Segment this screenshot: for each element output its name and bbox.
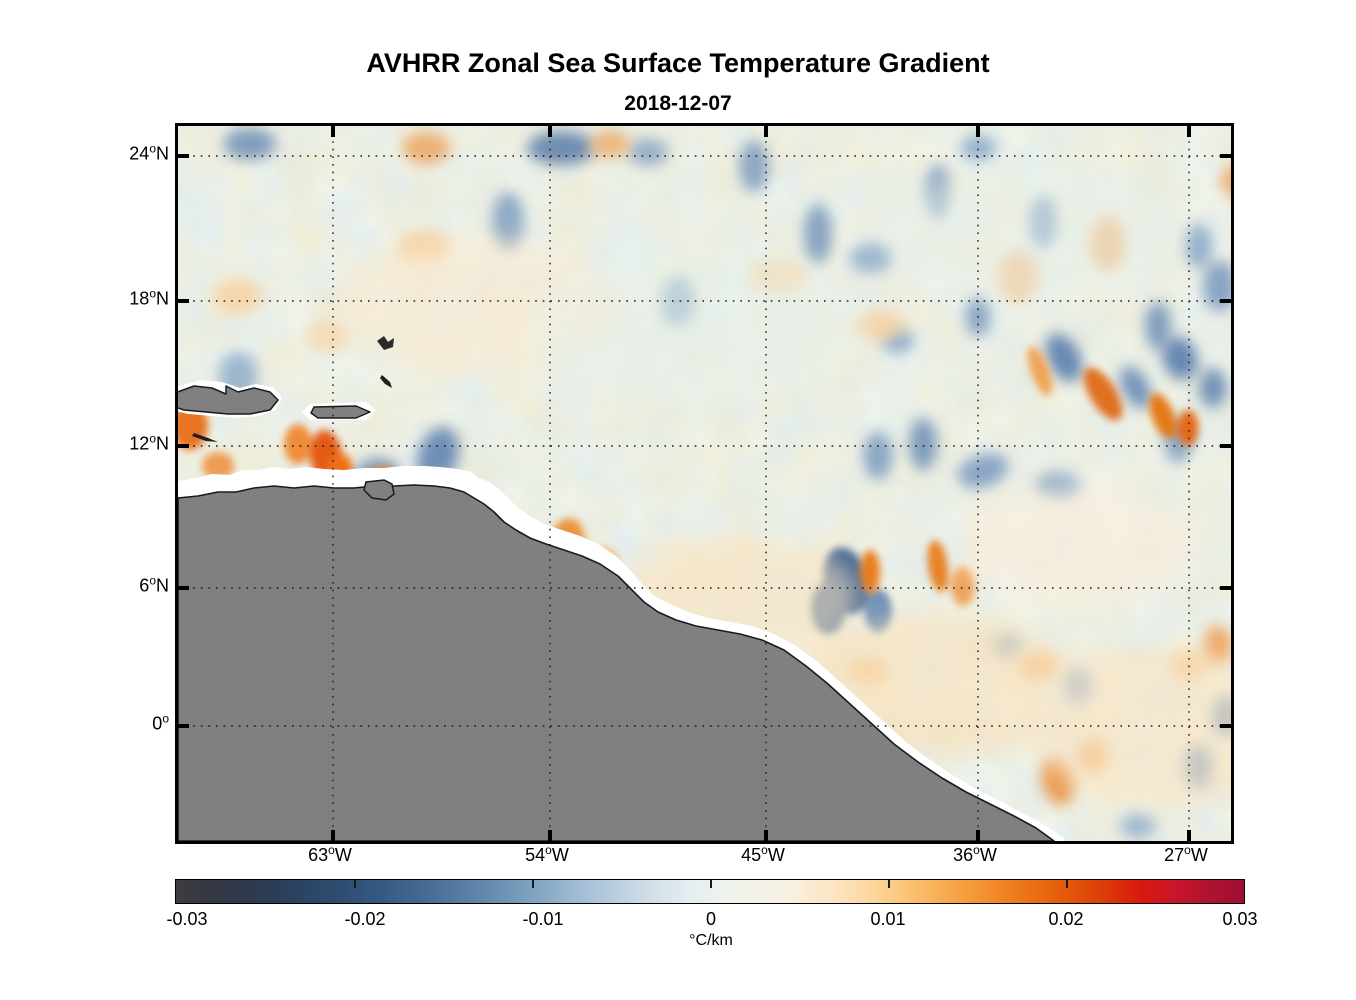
y-axis-tick-label: 12oN [129,432,169,455]
colorbar-tick-label: -0.03 [166,909,207,930]
colorbar-tick [354,880,356,888]
map-clip [178,126,1231,841]
y-axis-tick-label: 18oN [129,287,169,310]
colorbar-tick-label: 0 [706,909,716,930]
x-axis-tick-label: 63oW [308,843,352,866]
colorbar-tick [1066,880,1068,888]
map-plot-area[interactable] [175,123,1234,844]
y-axis-tick-label: 6oN [139,574,169,597]
colorbar-tick-label: -0.01 [522,909,563,930]
y-axis-tick-label: 0o [152,712,169,735]
colorbar-tick-label: -0.02 [344,909,385,930]
chart-subtitle: 2018-12-07 [0,92,1356,116]
colorbar-tick-label: 0.03 [1222,909,1257,930]
x-axis-tick-label: 45oW [741,843,785,866]
map-gridlines [178,126,1231,841]
y-axis-tick-label: 24oN [129,142,169,165]
x-axis-tick-label: 36oW [953,843,997,866]
colorbar-tick-label: 0.02 [1048,909,1083,930]
chart-title: AVHRR Zonal Sea Surface Temperature Grad… [0,48,1356,79]
colorbar-tick [888,880,890,888]
x-axis-tick-label: 54oW [525,843,569,866]
colorbar-tick-label: 0.01 [870,909,905,930]
x-axis-tick-label: 27oW [1164,843,1208,866]
colorbar-tick [710,880,712,888]
colorbar[interactable] [175,879,1245,904]
colorbar-tick [532,880,534,888]
colorbar-unit-label: °C/km [689,932,733,950]
